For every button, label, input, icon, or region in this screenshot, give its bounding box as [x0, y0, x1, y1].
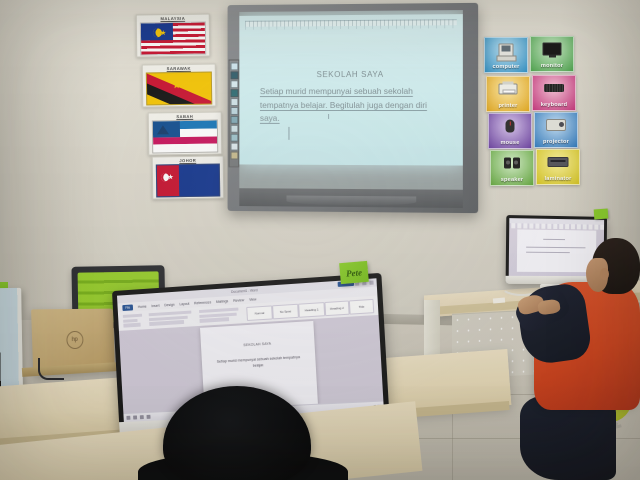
vocab-poster-monitor: monitor [530, 36, 574, 72]
ribbon-group-font[interactable] [149, 311, 192, 326]
flag-poster-malaysia: MALAYSIA ★ [136, 13, 211, 57]
projected-word-document: SEKOLAH SAYA Setiap murid mempunyai sebu… [239, 14, 463, 165]
vocab-label: speaker [501, 177, 524, 183]
word-taskbar-icon[interactable] [147, 415, 151, 419]
desktop-computer-icon [499, 43, 514, 56]
laptop-cable [38, 358, 64, 380]
interactive-whiteboard[interactable]: SEKOLAH SAYA Setiap murid mempunyai sebu… [228, 3, 479, 213]
tab-file[interactable]: File [122, 304, 133, 311]
projected-doc-title: SEKOLAH SAYA [239, 70, 463, 80]
tab-mailings[interactable]: Mailings [216, 299, 228, 304]
tab-references[interactable]: References [194, 300, 211, 305]
tab-review[interactable]: Review [233, 298, 244, 303]
vocab-label: projector [543, 139, 569, 145]
sarawak-flag-icon: ★ [146, 72, 212, 106]
word-document-name: Document1 - Word [231, 288, 258, 294]
monitor-far-left[interactable] [0, 288, 23, 388]
keyboard-icon [544, 84, 564, 92]
speaker-icon [504, 157, 520, 168]
toolbar-button-4[interactable] [230, 89, 238, 97]
whiteboard-surface[interactable]: SEKOLAH SAYA Setiap murid mempunyai sebu… [239, 10, 463, 190]
vocab-poster-speaker: speaker [490, 150, 534, 186]
hp-logo-icon: hp [66, 331, 83, 350]
style-normal[interactable]: Normal [246, 305, 273, 321]
ribbon-group-clipboard[interactable] [123, 314, 143, 328]
projected-text-caret [288, 127, 289, 140]
tab-home[interactable]: Home [138, 304, 147, 308]
malaysia-flag-icon: ★ [140, 22, 206, 56]
toolbar-button-5[interactable] [230, 98, 238, 106]
toolbar-button-2[interactable] [230, 71, 238, 79]
vocab-label: printer [498, 103, 517, 109]
sabah-flag-icon [152, 120, 218, 154]
vocab-label: computer [492, 64, 519, 70]
paper-scrap [493, 297, 505, 303]
projected-doc-body: Setiap murid mempunyai sebuah sekolah te… [260, 85, 449, 126]
word-page-title: SEKOLAH SAYA [201, 339, 315, 350]
vocab-poster-laminator: laminator [536, 149, 580, 185]
vocab-poster-projector: projector [534, 112, 578, 148]
toolbar-button-10[interactable] [230, 143, 238, 151]
vocab-poster-keyboard: keyboard [532, 75, 576, 111]
style-heading-2[interactable]: Heading 2 [324, 300, 349, 316]
vocab-label: keyboard [541, 102, 567, 108]
toolbar-button-9[interactable] [230, 134, 238, 142]
sticky-note-front: Pete [339, 261, 369, 284]
toolbar-button-7[interactable] [230, 116, 238, 124]
flag-poster-johor: JOHOR ★ [152, 155, 225, 199]
vocab-poster-computer: computer [484, 37, 528, 73]
projected-doc-mark [328, 114, 329, 119]
laminator-icon [548, 157, 569, 167]
printer-icon [499, 83, 518, 94]
vocab-label: mouse [500, 140, 519, 146]
classroom-photo: MALAYSIA ★ SARAWAK ★ SABAH JOHOR ★ [0, 0, 640, 480]
mouse-icon [506, 119, 515, 132]
vocab-poster-printer: printer [486, 76, 530, 112]
search-icon[interactable] [133, 415, 137, 419]
flag-poster-sarawak: SARAWAK ★ [142, 63, 217, 107]
explorer-icon[interactable] [140, 415, 144, 419]
ribbon-group-paragraph[interactable] [199, 308, 239, 323]
document-ruler-ticks [245, 25, 457, 29]
style-title[interactable]: Title [349, 298, 374, 314]
monitor-icon [543, 42, 562, 55]
toolbar-button-8[interactable] [230, 125, 238, 133]
johor-flag-icon: ★ [156, 164, 220, 198]
toolbar-button-11[interactable] [230, 152, 238, 160]
projector-icon [546, 119, 566, 131]
student-right-ear [600, 268, 609, 280]
tab-view[interactable]: View [249, 297, 256, 301]
flag-poster-sabah: SABAH [148, 111, 223, 155]
sticky-note-back [594, 209, 609, 220]
style-no-spacing[interactable]: No Spac [272, 303, 299, 319]
close-icon[interactable] [369, 280, 373, 284]
vocab-poster-mouse: mouse [488, 113, 532, 149]
vocab-label: monitor [541, 63, 563, 69]
start-icon[interactable] [126, 416, 130, 420]
toolbar-button-6[interactable] [230, 107, 238, 115]
whiteboard-side-toolbar[interactable] [229, 59, 240, 167]
toolbar-button-3[interactable] [230, 80, 238, 88]
style-heading-1[interactable]: Heading 1 [298, 302, 325, 318]
toolbar-button-1[interactable] [230, 62, 238, 70]
vocab-label: laminator [545, 176, 572, 182]
word-page-body: Setiap murid mempunyai sebuah sekolah te… [211, 354, 307, 371]
tab-insert[interactable]: Insert [151, 303, 159, 307]
word-page-back [517, 229, 596, 272]
tab-design[interactable]: Design [164, 302, 174, 307]
tab-layout[interactable]: Layout [179, 301, 189, 306]
